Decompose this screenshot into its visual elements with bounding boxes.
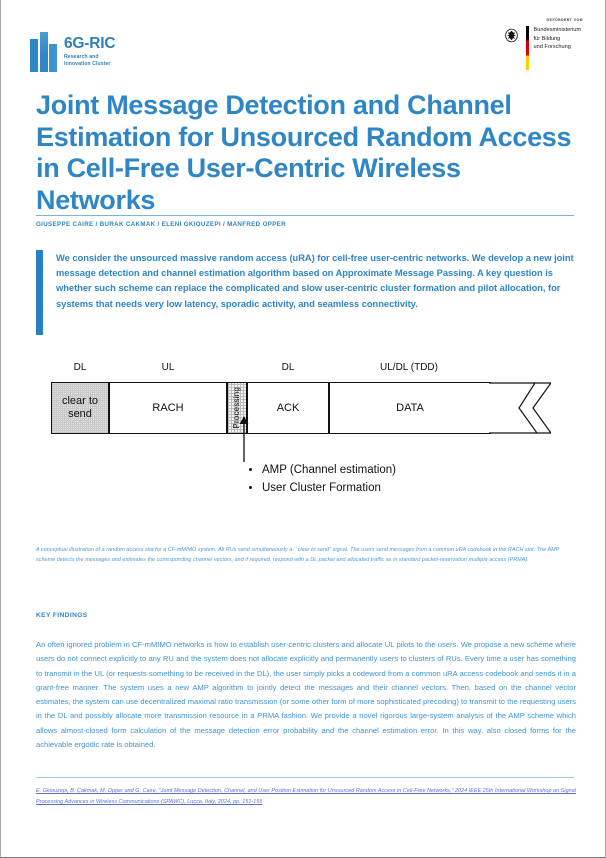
logo-subtitle-line1: Research and — [64, 54, 115, 61]
german-eagle-icon — [503, 27, 520, 44]
bmbf-name-line1: Bundesministerium — [534, 26, 582, 35]
bmbf-row: Bundesministerium für Bildung und Forsch… — [503, 26, 583, 70]
bmbf-name-line3: und Forschung — [534, 43, 582, 52]
bullet-list: AMP (Channel estimation) User Cluster Fo… — [246, 462, 396, 498]
bullet-item-user-cluster: User Cluster Formation — [262, 480, 396, 498]
author-list: GIUSEPPE CAIRE / BURAK CAKMAK / ELENI GK… — [36, 221, 286, 228]
abstract-block: We consider the unsourced massive random… — [36, 250, 576, 335]
processing-pointer-arrow-icon — [238, 416, 250, 462]
frame-structure-figure: DL UL DL UL/DL (TDD) clear to send RACH … — [51, 362, 551, 537]
abstract-text: We consider the unsourced massive random… — [56, 250, 576, 335]
logo-text-group: 6G-RIC Research and Innovation Cluster — [64, 36, 115, 67]
abstract-accent-bar — [36, 250, 43, 335]
logo-title: 6G-RIC — [64, 36, 115, 52]
logo-bar-left — [30, 39, 38, 72]
frame-cell-clear-to-send: clear to send — [51, 382, 109, 434]
slot-label-dl-1: DL — [51, 362, 109, 373]
bmbf-name: Bundesministerium für Bildung und Forsch… — [534, 26, 582, 52]
title-divider — [36, 215, 574, 216]
footer-divider — [36, 777, 574, 778]
frame-break-chevron-icon — [489, 382, 551, 434]
key-findings-heading: KEY FINDINGS — [36, 612, 88, 619]
logo-6g-ric: 6G-RIC Research and Innovation Cluster — [30, 32, 115, 72]
frame-cell-ack: ACK — [247, 382, 329, 434]
german-flag-stripe — [526, 26, 529, 70]
logo-bmbf: GEFÖRDERT VOM Bundesministerium für Bild… — [503, 18, 583, 70]
logo-subtitle: Research and Innovation Cluster — [64, 54, 115, 68]
bmbf-tagline: GEFÖRDERT VOM — [547, 18, 583, 22]
page-header: 6G-RIC Research and Innovation Cluster G… — [1, 0, 606, 88]
key-findings-body: An often ignored problem in CF-mMIMO net… — [36, 638, 576, 752]
slot-label-row: DL UL DL UL/DL (TDD) — [51, 362, 551, 380]
slot-label-uldl: UL/DL (TDD) — [329, 362, 489, 373]
poster-page: 6G-RIC Research and Innovation Cluster G… — [0, 0, 606, 858]
slot-label-dl-2: DL — [247, 362, 329, 373]
logo-bar-middle — [40, 32, 48, 72]
frame-cell-data: DATA — [329, 382, 491, 434]
frame-row: clear to send RACH Processing ACK DATA — [51, 382, 551, 434]
figure-caption: A conceptual illustration of a random ac… — [36, 545, 576, 565]
logo-bar-right — [49, 44, 57, 72]
logo-subtitle-line2: Innovation Cluster — [64, 61, 115, 68]
bmbf-name-line2: für Bildung — [534, 35, 582, 44]
slot-label-ul: UL — [109, 362, 227, 373]
reference-citation-link[interactable]: E. Gkiouzepi, B. Çakmak, M. Opper and G.… — [36, 786, 576, 809]
figure-bullet-list: AMP (Channel estimation) User Cluster Fo… — [246, 462, 396, 498]
page-title: Joint Message Detection and Channel Esti… — [36, 90, 576, 216]
frame-cell-rach: RACH — [109, 382, 227, 434]
6g-ric-logo-icon — [30, 32, 57, 72]
bullet-item-amp: AMP (Channel estimation) — [262, 462, 396, 480]
